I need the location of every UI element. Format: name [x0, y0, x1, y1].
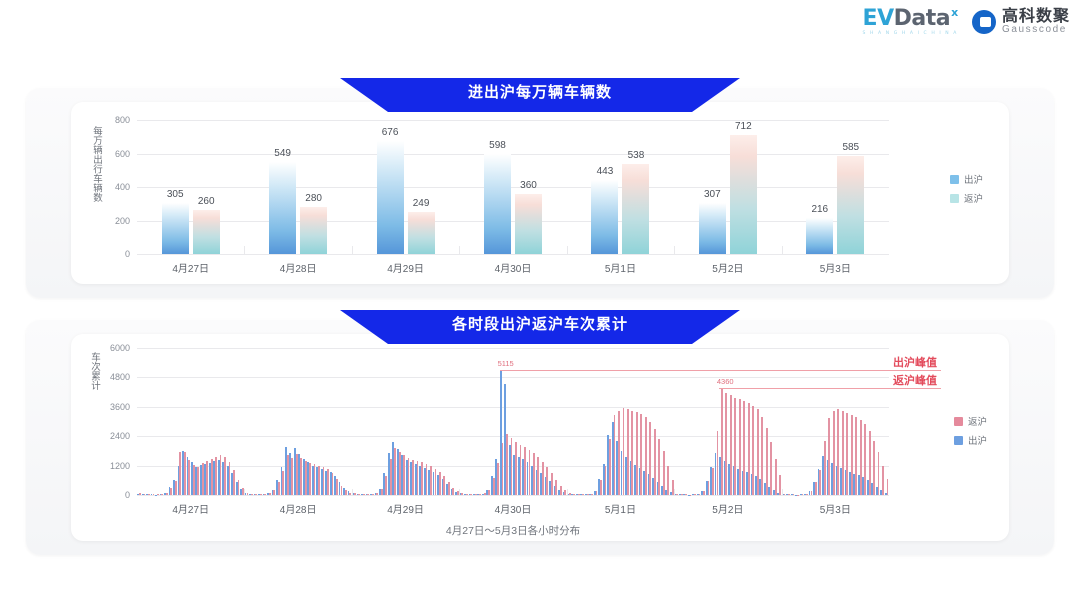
- chart2-hbar-ret: [627, 409, 629, 495]
- chart1-xsep: [567, 246, 568, 254]
- chart1-axes: 02004006008003052604月27日5492804月28日67624…: [137, 120, 889, 254]
- chart2-hbar-ret: [882, 466, 884, 495]
- chart2-hbar-ret: [582, 494, 584, 495]
- chart1-plot-area: 02004006008003052604月27日5492804月28日67624…: [71, 102, 1009, 284]
- chart2-hbar-ret: [837, 409, 839, 495]
- chart2-hbar-ret: [439, 472, 441, 495]
- chart1-gridline: [137, 187, 889, 188]
- chart2-hbar-ret: [591, 494, 593, 495]
- chart2-hbar-ret: [842, 411, 844, 495]
- chart2-hbar-ret: [435, 469, 437, 495]
- chart2-hbar-ret: [542, 462, 544, 495]
- chart2-hbar-ret: [372, 494, 374, 495]
- chart1-bar-ret: [730, 135, 757, 254]
- chart2-hbar-ret: [314, 464, 316, 495]
- chart2-hbar-ret: [470, 494, 472, 495]
- chart1-bar-value: 307: [704, 189, 721, 200]
- chart2-hbar-ret: [358, 494, 360, 495]
- chart2-xsep: [782, 489, 783, 495]
- chart2-hbar-ret: [596, 491, 598, 495]
- chart1-panel: 02004006008003052604月27日5492804月28日67624…: [26, 88, 1054, 298]
- chart2-hbar-ret: [224, 457, 226, 495]
- chart2-hbar-ret: [614, 415, 616, 495]
- chart2-hbar-ret: [215, 457, 217, 495]
- chart1-legend-label: 出沪: [964, 172, 983, 186]
- chart2-hbar-ret: [873, 441, 875, 495]
- chart2-hbar-ret: [793, 494, 795, 495]
- chart2-hbar-ret: [251, 494, 253, 495]
- chart2-annotation-value: 4360: [717, 377, 734, 386]
- chart1-bar-value: 360: [520, 180, 537, 191]
- chart2-hbar-ret: [537, 457, 539, 495]
- chart2-hbar-ret: [448, 482, 450, 495]
- header-logos: EVDatax S H A N G H A I C H I N A 高科数聚 G…: [863, 8, 1070, 37]
- chart2-hbar-ret: [828, 418, 830, 495]
- chart2-legend-swatch: [954, 436, 963, 445]
- chart2-xtick: 5月1日: [605, 501, 636, 516]
- evdata-wordmark: EVDatax: [863, 8, 957, 30]
- chart1-ytick: 0: [125, 249, 130, 259]
- chart2-hbar-ret: [403, 455, 405, 495]
- chart2-hbar-ret: [193, 465, 195, 495]
- chart2-hbar-ret: [179, 452, 181, 495]
- chart2-hbar-ret: [887, 479, 889, 495]
- chart2-hbar-ret: [157, 494, 159, 495]
- chart1-bar-value: 549: [274, 148, 291, 159]
- chart1-legend-item: 返沪: [950, 191, 983, 205]
- chart2-hbar-ret: [211, 459, 213, 495]
- chart1-bar-ret: [622, 164, 649, 254]
- chart2-xsep: [352, 489, 353, 495]
- chart2-gridline: [137, 436, 889, 437]
- chart1-ytick: 600: [115, 149, 130, 159]
- chart2-hbar-ret: [855, 417, 857, 495]
- chart2-hbar-ret: [238, 480, 240, 495]
- chart2-hbar-ret: [291, 458, 293, 495]
- chart1-legend-swatch: [950, 175, 959, 184]
- chart2-hbar-ret: [381, 489, 383, 495]
- chart2-hbar-ret: [332, 473, 334, 495]
- chart2-hbar-ret: [394, 448, 396, 495]
- chart2-hbar-ret: [551, 473, 553, 495]
- chart2-hbar-ret: [327, 469, 329, 495]
- chart2-hbar-ret: [725, 393, 727, 495]
- chart1-bar-value: 598: [489, 140, 506, 151]
- chart1-card: 02004006008003052604月27日5492804月28日67624…: [71, 102, 1009, 284]
- chart1-title: 进出沪每万辆车辆数: [340, 78, 740, 108]
- chart2-hbar-ret: [264, 494, 266, 495]
- chart2-hbar-ret: [730, 395, 732, 495]
- chart2-hbar-ret: [408, 458, 410, 495]
- chart2-hbar-ret: [493, 478, 495, 495]
- gausscode-g-icon: [972, 10, 996, 34]
- chart2-hbar-ret: [761, 417, 763, 495]
- chart1-bar-value: 216: [811, 204, 828, 215]
- chart2-hbar-ret: [345, 490, 347, 495]
- chart1-xtick: 4月27日: [172, 260, 209, 275]
- chart1-gridline: [137, 254, 889, 255]
- chart2-ytick: 2400: [110, 431, 130, 441]
- chart2-hbar-ret: [296, 454, 298, 495]
- chart1-xtick: 5月1日: [605, 260, 636, 275]
- chart2-hbar-ret: [475, 494, 477, 495]
- chart2-hbar-ret: [466, 494, 468, 495]
- chart1-bar-out: [162, 203, 189, 254]
- chart2-hbar-ret: [506, 434, 508, 495]
- chart2-hbar-ret: [305, 461, 307, 495]
- chart2-hbar-ret: [645, 417, 647, 495]
- chart2-hbar-ret: [851, 415, 853, 495]
- chart2-hbar-ret: [426, 464, 428, 495]
- chart2-hbar-ret: [148, 494, 150, 495]
- chart1-bar-ret: [193, 210, 220, 254]
- chart1-bar-value: 585: [842, 142, 859, 153]
- gausscode-name-cn: 高科数聚: [1002, 9, 1070, 26]
- chart2-hbar-ret: [399, 452, 401, 495]
- chart2-hbar-ret: [175, 481, 177, 495]
- chart2-hbar-ret: [811, 491, 813, 495]
- chart2-hbar-ret: [676, 494, 678, 495]
- chart1-legend: 出沪返沪: [950, 172, 983, 210]
- chart2-gridline: [137, 495, 889, 496]
- chart2-hbar-ret: [681, 494, 683, 495]
- chart1-bar-out: [806, 218, 833, 254]
- chart2-hbar-ret: [520, 445, 522, 495]
- chart2-hbar-ret: [824, 441, 826, 495]
- chart2-hbar-ret: [497, 463, 499, 495]
- chart2-hbar-ret: [529, 450, 531, 495]
- chart2-hbar-ret: [188, 460, 190, 495]
- chart2-ytick: 4800: [110, 372, 130, 382]
- chart2-hbar-ret: [766, 428, 768, 495]
- chart1-bar-out: [269, 162, 296, 254]
- chart2-legend-label: 出沪: [968, 433, 987, 447]
- chart2-hbar-ret: [802, 494, 804, 495]
- chart2-ytick: 3600: [110, 402, 130, 412]
- chart2-hbar-ret: [819, 470, 821, 495]
- chart2-xtick: 5月3日: [820, 501, 851, 516]
- chart1-legend-label: 返沪: [964, 191, 983, 205]
- chart2-hbar-ret: [757, 409, 759, 495]
- chart1-xtick: 4月28日: [280, 260, 317, 275]
- chart2-hbar-ret: [278, 482, 280, 495]
- chart1-yaxis-title: 每万辆出行车辆数: [89, 126, 103, 250]
- chart2-yaxis-title: 车次累计: [87, 352, 101, 499]
- chart2-hbar-ret: [144, 494, 146, 495]
- chart2-hbar-ret: [600, 480, 602, 495]
- chart2-hbar-ret: [153, 494, 155, 495]
- chart2-xtick: 5月2日: [712, 501, 743, 516]
- chart2-hbar-ret: [229, 462, 231, 495]
- chart2-hbar-ret: [605, 466, 607, 495]
- chart2-gridline: [137, 377, 889, 378]
- chart2-legend: 返沪出沪: [954, 414, 987, 452]
- chart2-hbar-ret: [654, 429, 656, 495]
- chart1-bar-value: 712: [735, 121, 752, 132]
- chart2-axes: 0120024003600480060004月27日4月28日4月29日4月30…: [137, 348, 889, 495]
- chart1-xtick: 5月3日: [820, 260, 851, 275]
- chart2-hbar-ret: [479, 494, 481, 495]
- evdata-logo: EVDatax S H A N G H A I C H I N A: [863, 8, 958, 37]
- chart2-hbar-ret: [323, 467, 325, 495]
- chart2-hbar-ret: [864, 424, 866, 495]
- chart2-hbar-ret: [846, 413, 848, 495]
- chart2-hbar-ret: [815, 482, 817, 495]
- chart2-hbar-ret: [636, 412, 638, 495]
- chart2-hbar-ret: [282, 471, 284, 495]
- chart2-hbar-ret: [412, 460, 414, 495]
- chart2-hbar-ret: [390, 459, 392, 495]
- chart2-hbar-ret: [833, 411, 835, 495]
- chart1-bar-value: 260: [198, 196, 215, 207]
- chart2-hbar-ret: [658, 439, 660, 495]
- chart2-hbar-ret: [139, 493, 141, 495]
- chart1-xsep: [674, 246, 675, 254]
- chart2-hbar-ret: [569, 493, 571, 495]
- chart2-hbar-ret: [461, 493, 463, 495]
- chart1-ytick: 200: [115, 216, 130, 226]
- chart2-hbar-ret: [578, 494, 580, 495]
- chart2-xsep: [459, 489, 460, 495]
- chart2-hbar-ret: [663, 451, 665, 495]
- chart2-hbar-ret: [690, 495, 692, 496]
- chart2-annotation-line: [500, 370, 941, 371]
- chart2-hbar-ret: [623, 408, 625, 495]
- chart2-hbar-ret: [752, 406, 754, 495]
- chart2-hbar-ret: [806, 494, 808, 495]
- evdata-tagline: S H A N G H A I C H I N A: [863, 32, 958, 37]
- chart2-hbar-ret: [367, 494, 369, 495]
- chart2-panel: 0120024003600480060004月27日4月28日4月29日4月30…: [26, 320, 1054, 555]
- chart2-title: 各时段出沪返沪车次累计: [340, 310, 740, 340]
- chart1-bar-out: [377, 141, 404, 254]
- chart1-bar-out: [699, 203, 726, 254]
- chart2-hbar-ret: [354, 493, 356, 495]
- chart1-bar-value: 443: [597, 166, 614, 177]
- chart2-hbar-ret: [247, 493, 249, 495]
- chart2-card: 0120024003600480060004月27日4月28日4月29日4月30…: [71, 334, 1009, 541]
- chart2-hbar-ret: [739, 399, 741, 495]
- chart2-hbar-ret: [860, 420, 862, 495]
- chart2-hbar-ret: [385, 476, 387, 495]
- chart2-hbar-ret: [694, 494, 696, 495]
- chart2-hbar-ret: [649, 422, 651, 496]
- chart2-legend-item: 返沪: [954, 414, 987, 428]
- chart2-hbar-ret: [430, 466, 432, 495]
- chart1-legend-swatch: [950, 194, 959, 203]
- chart2-hbar-ret: [743, 401, 745, 495]
- chart1-bar-value: 280: [305, 193, 322, 204]
- chart2-annotation-label: 返沪峰值: [893, 372, 937, 388]
- chart1-gridline: [137, 221, 889, 222]
- chart2-legend-swatch: [954, 417, 963, 426]
- gausscode-name-en: Gausscode: [1002, 25, 1070, 36]
- chart1-xsep: [244, 246, 245, 254]
- chart2-hbar-ret: [206, 461, 208, 495]
- chart1-title-banner: 进出沪每万辆车辆数: [0, 78, 1080, 118]
- chart2-xtick: 4月28日: [280, 501, 317, 516]
- chart2-hbar-ret: [609, 439, 611, 495]
- chart2-hbar-ret: [515, 442, 517, 495]
- chart2-xsep: [244, 489, 245, 495]
- chart2-xtick: 4月30日: [495, 501, 532, 516]
- chart2-hbar-ret: [260, 494, 262, 495]
- chart2-hbar-ret: [488, 490, 490, 495]
- chart2-hbar-ret: [161, 494, 163, 495]
- chart2-hbar-ret: [273, 490, 275, 495]
- chart1-bar-value: 305: [167, 189, 184, 200]
- chart1-bar-out: [484, 154, 511, 254]
- evdata-suffix: Data: [894, 6, 950, 31]
- chart1-bar-value: 249: [413, 198, 430, 209]
- chart2-hbar-ret: [233, 470, 235, 495]
- chart2-hbar-ret: [573, 494, 575, 495]
- chart2-hbar-ret: [197, 467, 199, 495]
- chart2-hbar-ret: [318, 466, 320, 495]
- chart2-hbar-ret: [546, 467, 548, 495]
- chart2-legend-label: 返沪: [968, 414, 987, 428]
- chart1-legend-item: 出沪: [950, 172, 983, 186]
- chart2-hbar-ret: [587, 494, 589, 495]
- chart2-hbar-ret: [717, 431, 719, 495]
- chart2-hbar-ret: [269, 493, 271, 495]
- chart1-gridline: [137, 120, 889, 121]
- chart2-annotation-label: 出沪峰值: [893, 354, 937, 370]
- chart1-bar-ret: [408, 212, 435, 254]
- chart2-hbar-ret: [421, 462, 423, 495]
- chart2-xsep: [674, 489, 675, 495]
- chart2-hbar-ret: [300, 458, 302, 495]
- chart2-hbar-ret: [184, 452, 186, 495]
- chart2-hbar-ret: [166, 493, 168, 495]
- chart2-hbar-ret: [309, 463, 311, 495]
- chart1-bar-ret: [515, 194, 542, 254]
- chart2-hbar-ret: [443, 476, 445, 495]
- chart2-ytick: 0: [125, 490, 130, 500]
- evdata-prefix: EV: [863, 6, 894, 31]
- chart2-hbar-ret: [784, 494, 786, 495]
- chart2-hbar-ret: [170, 488, 172, 495]
- chart2-hbar-ret: [699, 494, 701, 495]
- chart2-title-banner: 各时段出沪返沪车次累计: [0, 310, 1080, 350]
- chart2-hbar-ret: [511, 438, 513, 495]
- chart1-xsep: [352, 246, 353, 254]
- chart2-hbar-ret: [417, 461, 419, 495]
- chart2-annotation-line: [719, 388, 941, 389]
- chart2-hbar-ret: [869, 431, 871, 495]
- chart2-hbar-ret: [788, 494, 790, 495]
- chart2-legend-item: 出沪: [954, 433, 987, 447]
- chart2-hbar-ret: [287, 455, 289, 495]
- chart2-hbar-ret: [734, 398, 736, 496]
- chart2-hbar-ret: [748, 403, 750, 495]
- chart1-bar-value: 538: [628, 150, 645, 161]
- chart1-xsep: [782, 246, 783, 254]
- chart2-hbar-ret: [667, 466, 669, 495]
- chart2-hbar-ret: [878, 452, 880, 495]
- chart2-hbar-ret: [685, 494, 687, 495]
- chart1-xtick: 4月29日: [387, 260, 424, 275]
- chart2-xtick: 4月29日: [387, 501, 424, 516]
- chart2-hbar-ret: [202, 463, 204, 495]
- chart1-gridline: [137, 154, 889, 155]
- chart2-xtick: 4月27日: [172, 501, 209, 516]
- chart2-hbar-ret: [452, 488, 454, 495]
- chart2-hbar-ret: [712, 468, 714, 495]
- chart2-hbar-ret: [533, 453, 535, 495]
- chart1-xsep: [459, 246, 460, 254]
- chart1-bar-ret: [300, 207, 327, 254]
- chart2-hbar-ret: [363, 494, 365, 495]
- chart2-hbar-ret: [502, 443, 504, 495]
- chart1-xtick: 4月30日: [495, 260, 532, 275]
- chart2-hbar-ret: [555, 480, 557, 495]
- chart1-xtick: 5月2日: [712, 260, 743, 275]
- chart1-bar-ret: [837, 156, 864, 254]
- evdata-x-icon: x: [951, 6, 958, 19]
- chart2-hbar-ret: [775, 459, 777, 495]
- chart2-annotation-value: 5115: [498, 359, 514, 368]
- chart2-hbar-ret: [640, 414, 642, 495]
- chart2-hbar-ret: [341, 486, 343, 495]
- chart2-hbar-ret: [220, 455, 222, 495]
- chart2-hbar-ret: [255, 494, 257, 495]
- chart2-hbar-ret: [721, 388, 723, 495]
- chart2-ytick: 1200: [110, 461, 130, 471]
- chart2-hbar-ret: [336, 479, 338, 495]
- chart1-bar-value: 676: [382, 127, 399, 138]
- chart2-hbar-ret: [618, 411, 620, 495]
- chart2-gridline: [137, 407, 889, 408]
- chart2-hbar-ret: [484, 493, 486, 495]
- chart2-hbar-ret: [770, 442, 772, 495]
- chart2-hbar-ret: [708, 481, 710, 495]
- gausscode-logo: 高科数聚 Gausscode: [972, 9, 1070, 36]
- chart2-hbar-ret: [631, 411, 633, 495]
- chart1-ytick: 400: [115, 182, 130, 192]
- chart2-hbar-ret: [560, 486, 562, 495]
- chart2-xaxis-caption: 4月27日～5月3日各小时分布: [446, 523, 580, 538]
- chart2-hbar-ret: [703, 491, 705, 495]
- chart2-xsep: [567, 489, 568, 495]
- chart2-hbar-ret: [376, 493, 378, 495]
- chart1-bar-out: [591, 180, 618, 254]
- chart2-hbar-ret: [524, 447, 526, 495]
